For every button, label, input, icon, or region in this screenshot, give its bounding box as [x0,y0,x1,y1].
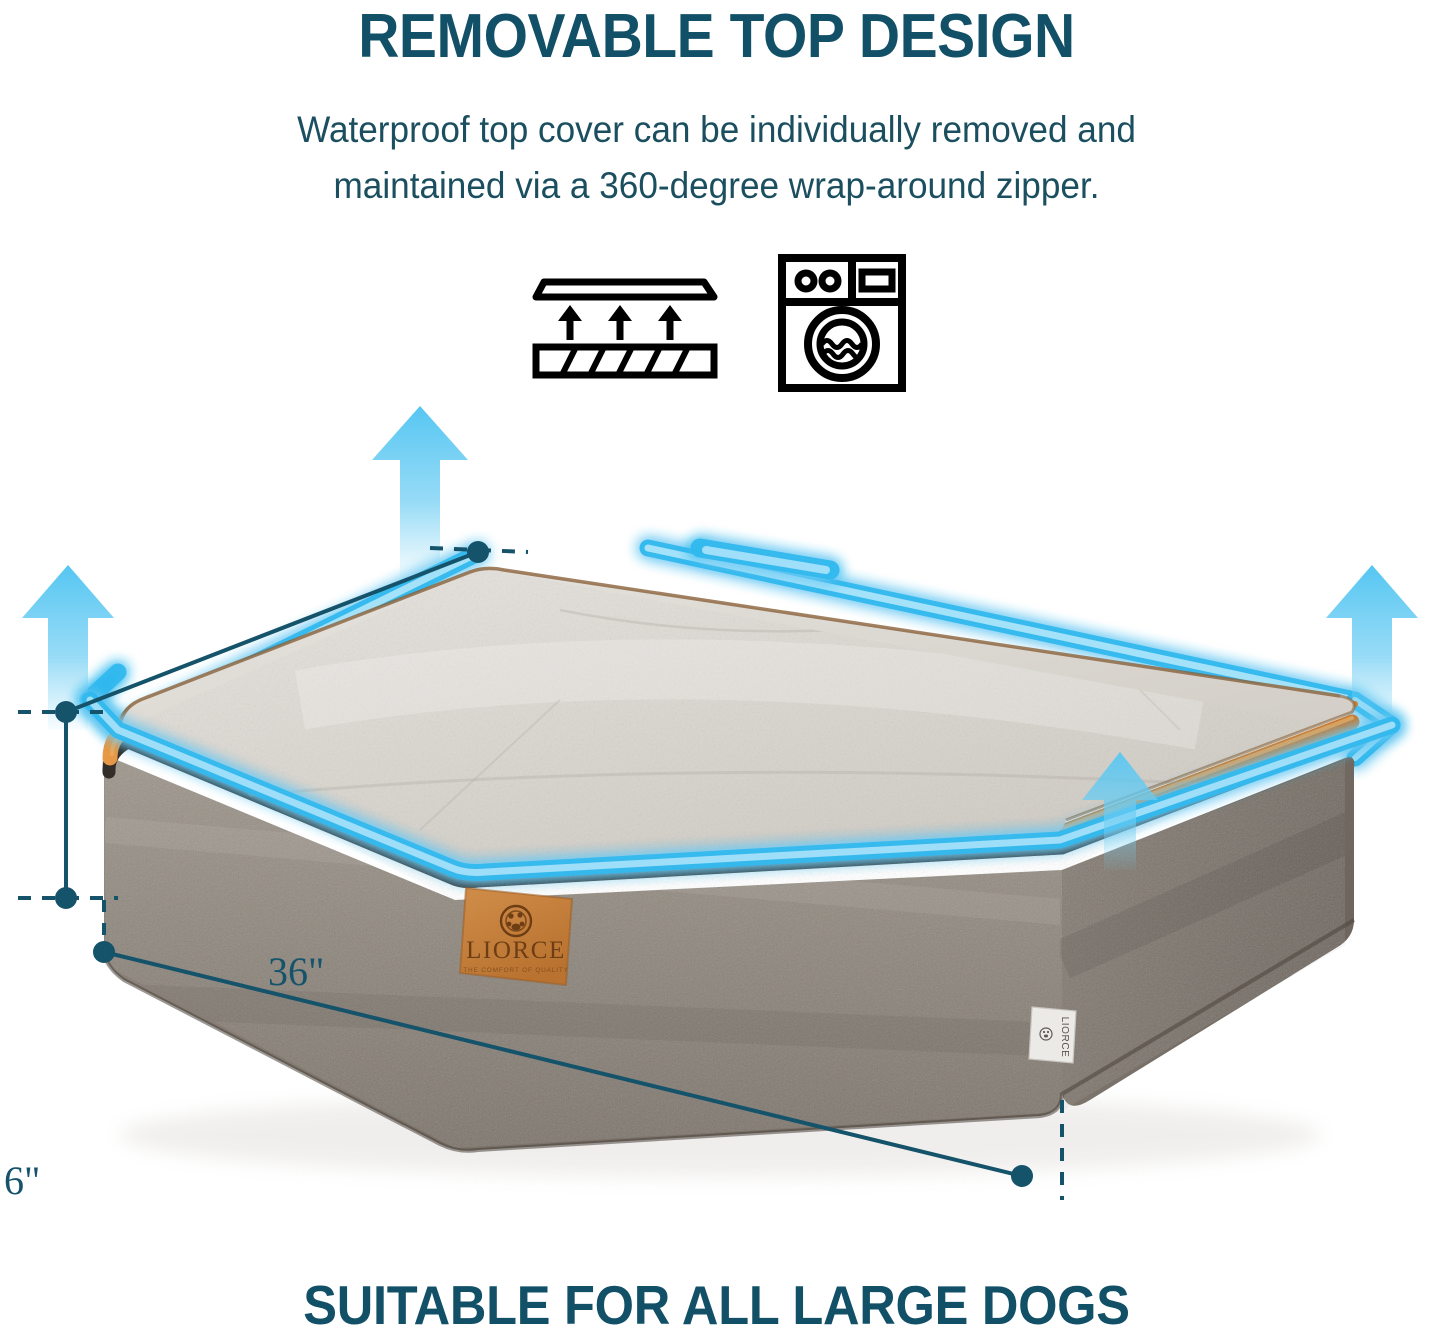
removable-cover-icon [524,252,724,385]
brand-patch-tagline: THE COMFORT OF QUALITY [463,967,568,974]
product-svg: LIORCE THE COMFORT OF QUALITY LIORCE [0,400,1433,1280]
feature-icon-row [516,252,936,400]
subtitle-line-1: Waterproof top cover can be individually… [297,109,1136,150]
product-illustration: LIORCE THE COMFORT OF QUALITY LIORCE [0,400,1433,1280]
brand-patch-text: LIORCE [466,937,566,964]
page-title: REMOVABLE TOP DESIGN [57,4,1375,70]
side-tag-text: LIORCE [1059,1017,1070,1058]
arrow-top-left [372,406,468,580]
page-subtitle: Waterproof top cover can be individually… [36,102,1397,214]
dimension-height-6 [18,712,118,956]
dimension-label-width: 36" [268,948,324,995]
footer-text: SUITABLE FOR ALL LARGE DOGS [57,1276,1375,1331]
washing-machine-icon [776,252,908,399]
side-fabric-tag: LIORCE [1029,1007,1076,1063]
brand-patch: LIORCE THE COMFORT OF QUALITY [460,888,572,985]
subtitle-line-2: maintained via a 360-degree wrap-around … [36,158,1397,214]
infographic-page: REMOVABLE TOP DESIGN Waterproof top cove… [0,0,1433,1331]
dimension-label-height: 6" [4,1157,40,1204]
